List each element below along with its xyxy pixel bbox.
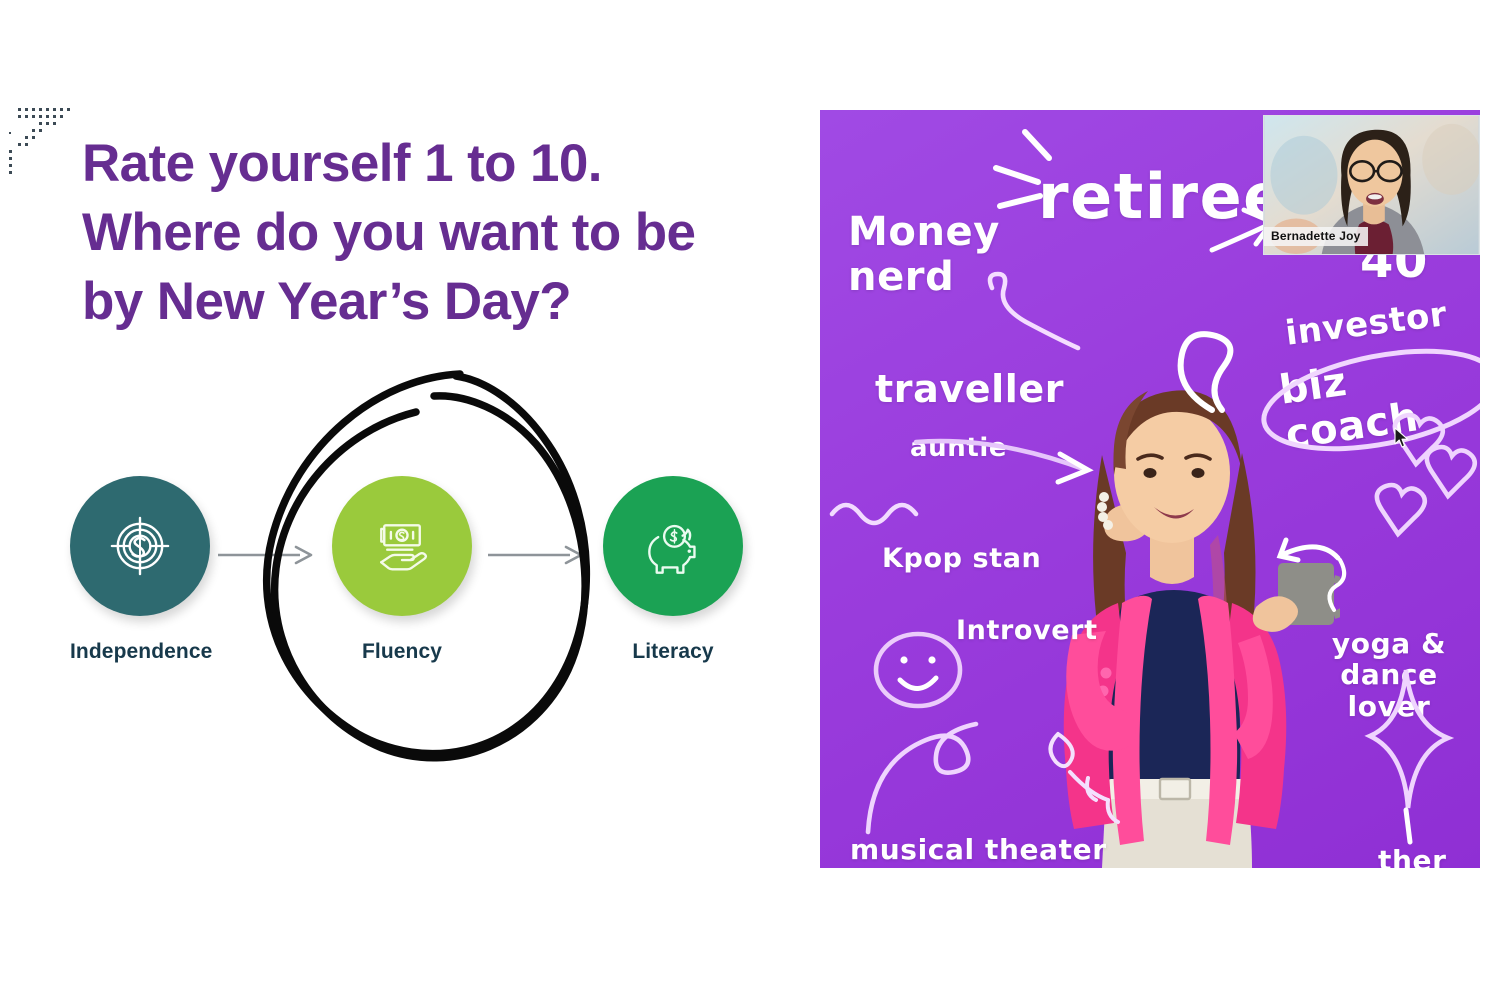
overlay-word-yoga-dance-lover: yoga & dance lover — [1298, 628, 1480, 722]
overlay-word-kpop-stan: Kpop stan — [882, 544, 1041, 574]
step-fluency[interactable]: Fluency — [332, 476, 472, 664]
money-in-hand-icon — [365, 509, 439, 583]
slide-canvas: Rate yourself 1 to 10. Where do you want… — [0, 0, 1500, 1000]
overlay-word-partial-ther: ther — [1378, 845, 1447, 868]
step-literacy-label: Literacy — [603, 640, 743, 664]
overlay-word-retiree: retiree — [1038, 162, 1287, 231]
mouse-pointer-icon — [1394, 427, 1410, 449]
overlay-word-traveller: traveller — [875, 368, 1064, 411]
piggy-bank-icon — [636, 509, 710, 583]
step-fluency-bubble — [332, 476, 472, 616]
three-step-diagram: Independence Fluency — [60, 468, 800, 698]
overlay-word-money-nerd: Money nerd — [848, 210, 1000, 300]
page-title: Rate yourself 1 to 10. Where do you want… — [82, 130, 822, 337]
step-literacy-bubble — [603, 476, 743, 616]
step-independence-bubble — [70, 476, 210, 616]
overlay-word-musical-theater: musical theater — [850, 834, 1107, 865]
arrow-fluency-to-literacy-icon — [488, 542, 584, 568]
step-literacy[interactable]: Literacy — [603, 476, 743, 664]
step-independence-label: Independence — [70, 640, 210, 664]
step-fluency-label: Fluency — [332, 640, 472, 664]
target-dollar-icon — [103, 509, 177, 583]
overlay-word-investor: investor — [1283, 295, 1449, 353]
step-independence[interactable]: Independence — [70, 476, 210, 664]
pip-speaker-tile[interactable]: Bernadette Joy — [1263, 115, 1480, 255]
overlay-word-auntie: auntie — [910, 434, 1007, 463]
pip-speaker-name: Bernadette Joy — [1264, 227, 1368, 246]
arrow-independence-to-fluency-icon — [218, 542, 314, 568]
video-player-panel[interactable]: Money nerd retiree traveller auntie Kpop… — [820, 110, 1480, 868]
overlay-word-introvert: Introvert — [956, 616, 1098, 646]
